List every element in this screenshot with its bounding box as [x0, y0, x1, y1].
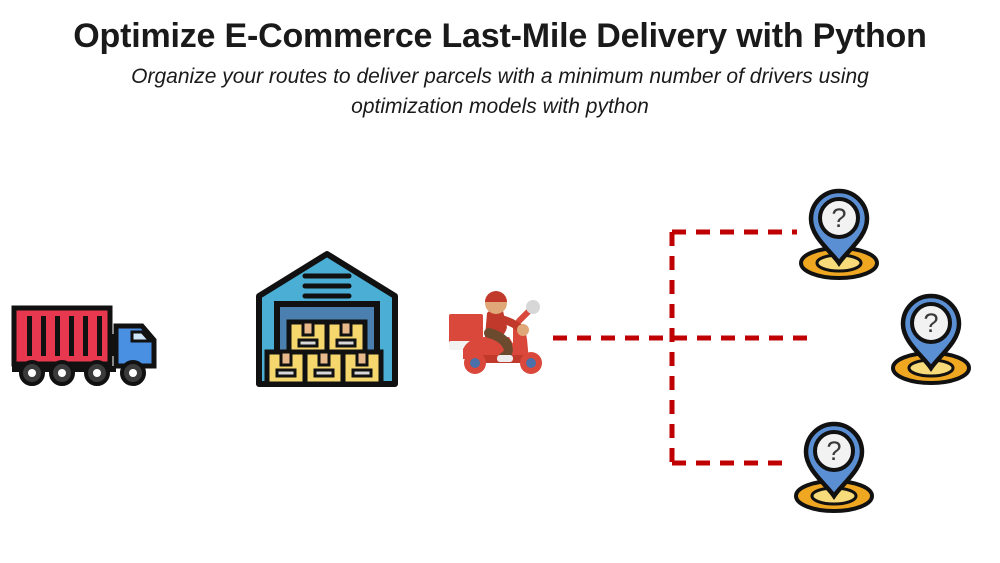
slide-canvas: Optimize E-Commerce Last-Mile Delivery w…: [0, 0, 1000, 563]
pin-question-mark: ?: [923, 308, 938, 338]
destination-pin-icon-bottom: ?: [788, 418, 880, 514]
destination-pin-icon-middle: ?: [885, 290, 977, 386]
page-title: Optimize E-Commerce Last-Mile Delivery w…: [0, 16, 1000, 56]
delivery-route-path: [540, 210, 840, 485]
warehouse-icon: [253, 248, 401, 390]
delivery-scooter-icon: [447, 287, 557, 377]
destination-pin-icon-top: ?: [793, 185, 885, 281]
header-block: Optimize E-Commerce Last-Mile Delivery w…: [0, 16, 1000, 122]
pin-question-mark: ?: [831, 203, 846, 233]
pin-question-mark: ?: [826, 436, 841, 466]
delivery-truck-icon: [8, 300, 160, 392]
page-subtitle: Organize your routes to deliver parcels …: [0, 62, 1000, 122]
